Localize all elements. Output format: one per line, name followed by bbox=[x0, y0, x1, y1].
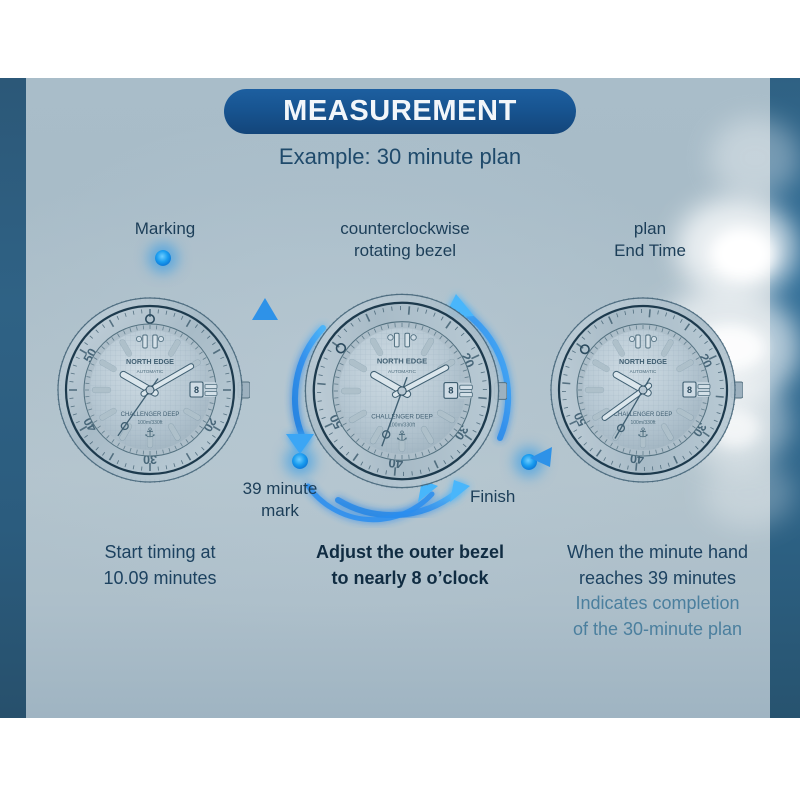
label-finish: Finish bbox=[470, 486, 590, 508]
bottom-blue-band bbox=[0, 686, 800, 718]
poster-canvas: MEASUREMENT Example: 30 minute plan Mark… bbox=[0, 0, 800, 800]
svg-text:NORTH EDGE: NORTH EDGE bbox=[377, 357, 427, 366]
triangle-pointer-icon bbox=[250, 296, 280, 322]
caption-step-2: Adjust the outer bezel to nearly 8 o’clo… bbox=[285, 540, 535, 591]
label-ccw-line2: rotating bezel bbox=[354, 241, 456, 260]
svg-text:8: 8 bbox=[194, 385, 199, 395]
label-finish-text: Finish bbox=[470, 487, 515, 506]
svg-text:CHALLENGER DEEP: CHALLENGER DEEP bbox=[614, 412, 673, 418]
subtitle: Example: 30 minute plan bbox=[0, 144, 800, 170]
caption-2-line1: Adjust the outer bezel bbox=[285, 540, 535, 566]
caption-1-line2: 10.09 minutes bbox=[35, 566, 285, 592]
caption-3-line3: Indicates completion bbox=[530, 591, 785, 617]
svg-text:AUTOMATIC: AUTOMATIC bbox=[388, 369, 416, 375]
caption-2-line2: to nearly 8 o’clock bbox=[285, 566, 535, 592]
svg-text:NORTH EDGE: NORTH EDGE bbox=[619, 357, 667, 366]
svg-text:⚓: ⚓ bbox=[144, 425, 156, 440]
label-plan-line1: plan bbox=[634, 219, 666, 238]
glow-dot-marking bbox=[155, 250, 171, 266]
left-edge-strip bbox=[0, 78, 26, 718]
label-counterclockwise-bezel: counterclockwise rotating bezel bbox=[290, 218, 520, 262]
svg-text:CHALLENGER DEEP: CHALLENGER DEEP bbox=[371, 413, 433, 420]
title-banner: MEASUREMENT bbox=[224, 89, 576, 134]
label-plan-line2: End Time bbox=[614, 241, 686, 260]
svg-text:AUTOMATIC: AUTOMATIC bbox=[137, 369, 164, 374]
caption-step-1: Start timing at 10.09 minutes bbox=[35, 540, 285, 591]
poster-panel: MEASUREMENT Example: 30 minute plan Mark… bbox=[0, 78, 800, 718]
label-ccw-line1: counterclockwise bbox=[340, 219, 469, 238]
label-plan-end-time: plan End Time bbox=[565, 218, 735, 262]
svg-text:AUTOMATIC: AUTOMATIC bbox=[630, 369, 657, 374]
svg-text:⚓: ⚓ bbox=[396, 428, 408, 443]
svg-text:NORTH EDGE: NORTH EDGE bbox=[126, 357, 174, 366]
svg-text:8: 8 bbox=[448, 386, 453, 397]
caption-3-line1: When the minute hand bbox=[530, 540, 785, 566]
svg-text:CHALLENGER DEEP: CHALLENGER DEEP bbox=[121, 412, 180, 418]
watch-step-2: 203040508NORTH EDGEAUTOMATICCHALLENGER D… bbox=[297, 286, 507, 496]
caption-3-line2: reaches 39 minutes bbox=[530, 566, 785, 592]
caption-3-line4: of the 30-minute plan bbox=[530, 617, 785, 643]
label-39-line2: mark bbox=[261, 501, 299, 520]
watch-step-1: 203040508NORTH EDGEAUTOMATICCHALLENGER D… bbox=[50, 290, 250, 490]
label-marking-text: Marking bbox=[135, 219, 195, 238]
label-39-minute-mark: 39 minute mark bbox=[210, 478, 350, 522]
label-marking: Marking bbox=[80, 218, 250, 240]
caption-1-line1: Start timing at bbox=[35, 540, 285, 566]
watch-step-3: 203040508NORTH EDGEAUTOMATICCHALLENGER D… bbox=[543, 290, 743, 490]
label-39-line1: 39 minute bbox=[243, 479, 318, 498]
page-title: MEASUREMENT bbox=[283, 95, 517, 128]
caption-step-3: When the minute hand reaches 39 minutes … bbox=[530, 540, 785, 642]
svg-text:8: 8 bbox=[687, 385, 692, 395]
svg-text:⚓: ⚓ bbox=[637, 425, 649, 440]
